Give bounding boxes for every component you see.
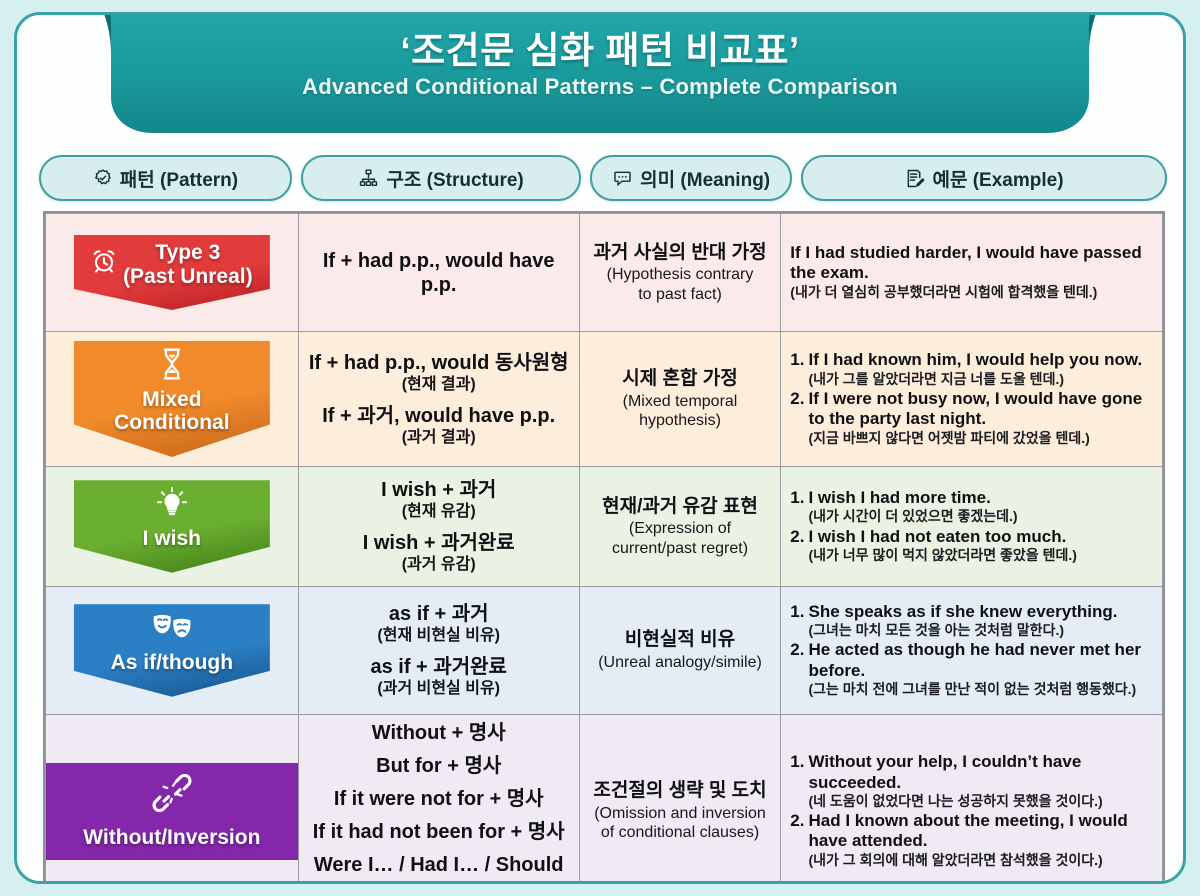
structure-block: If + 과거, would have p.p. (과거 결과) [308, 404, 570, 448]
structure-block: as if + 과거 (현재 비현실 비유) [308, 602, 570, 646]
structure-sub: (현재 결과) [308, 375, 570, 395]
pattern-banner: Without/Inversion [46, 763, 298, 860]
structure-sub: (과거 유감) [308, 555, 570, 575]
structure-block: If it had not been for + 명사 [308, 820, 570, 844]
column-header-meaning: 의미 (Meaning) [590, 155, 792, 201]
structure-block: I wish + 과거 (현재 유감) [308, 478, 570, 522]
column-header-label: 의미 (Meaning) [640, 165, 770, 192]
pattern-banner-wrap: Type 3 (Past Unreal) [46, 235, 298, 310]
pattern-label-line1: Mixed [142, 388, 202, 412]
meaning-korean: 현재/과거 유감 표현 [589, 495, 772, 519]
list-item: 1. If I had known him, I would help you … [790, 350, 1153, 387]
example-body: Had I known about the meeting, I would h… [808, 811, 1153, 869]
meaning-english: (Mixed temporal hypothesis) [589, 392, 772, 431]
broken-chain-icon [152, 773, 192, 818]
header-banner-shape [17, 12, 1183, 143]
example-english: He acted as though he had never met her … [808, 640, 1153, 681]
example-body: Without your help, I couldn’t have succe… [808, 752, 1153, 810]
list-item: 2. He acted as though he had never met h… [790, 640, 1153, 698]
example-english: Without your help, I couldn’t have succe… [808, 752, 1153, 793]
structure-main: But for + 명사 [308, 754, 570, 778]
example-number: 1. [790, 602, 804, 639]
structure-block: If + had p.p., would have p.p. [308, 249, 570, 297]
meaning-english: (Omission and inversion of conditional c… [589, 804, 772, 843]
structure-block: Were I… / Had I… / Should I… [308, 853, 570, 884]
meaning-cell: 조건절의 생략 및 도치 (Omission and inversion of … [579, 715, 781, 885]
list-item: 2. Had I known about the meeting, I woul… [790, 811, 1153, 869]
structure-main: If + had p.p., would have p.p. [308, 249, 570, 297]
pattern-banner-wrap: As if/though [46, 604, 298, 696]
example-list: 1. She speaks as if she knew everything.… [790, 602, 1153, 698]
structure-sub: (과거 결과) [308, 428, 570, 448]
structure-sub: (과거 비현실 비유) [308, 679, 570, 699]
pattern-cell: I wish [46, 467, 299, 587]
example-cell: If I had studied harder, I would have pa… [781, 214, 1163, 332]
example-korean: (내가 그 회의에 대해 알았더라면 참석했을 것이다.) [808, 852, 1153, 869]
example-number: 2. [790, 640, 804, 698]
example-english: She speaks as if she knew everything. [808, 602, 1153, 622]
meaning-cell: 시제 혼합 가정 (Mixed temporal hypothesis) [579, 332, 781, 467]
example-number: 1. [790, 350, 804, 387]
infographic-card: ‘조건문 심화 패턴 비교표’ Advanced Conditional Pat… [14, 12, 1186, 884]
example-list: If I had studied harder, I would have pa… [790, 243, 1153, 301]
example-english: I wish I had more time. [808, 488, 1153, 508]
list-item: If I had studied harder, I would have pa… [790, 243, 1153, 301]
pattern-banner: Mixed Conditional [74, 341, 270, 457]
table-row: I wish I wish + 과거 (현재 유감) I wish + 과거완료… [46, 467, 1163, 587]
page-title: ‘조건문 심화 패턴 비교표’ [400, 30, 799, 73]
column-header-label: 구조 (Structure) [386, 165, 523, 192]
meaning-cell: 과거 사실의 반대 가정 (Hypothesis contrary to pas… [579, 214, 781, 332]
header-banner: ‘조건문 심화 패턴 비교표’ Advanced Conditional Pat… [17, 12, 1183, 143]
meaning-korean: 조건절의 생략 및 도치 [589, 779, 772, 803]
structure-main: I wish + 과거완료 [308, 531, 570, 555]
column-header-label: 패턴 (Pattern) [120, 165, 238, 192]
speech-bubble-icon [612, 168, 633, 188]
table-row: Type 3 (Past Unreal) If + had p.p., woul… [46, 214, 1163, 332]
pattern-label-line1: I wish [143, 527, 201, 551]
example-korean: (내가 너무 많이 먹지 않았더라면 좋았을 텐데.) [808, 547, 1153, 564]
list-item: 1. I wish I had more time. (내가 시간이 더 있었으… [790, 488, 1153, 525]
structure-cell: I wish + 과거 (현재 유감) I wish + 과거완료 (과거 유감… [298, 467, 579, 587]
example-body: If I had studied harder, I would have pa… [790, 243, 1153, 301]
structure-sub: (현재 유감) [308, 502, 570, 522]
example-english: Had I known about the meeting, I would h… [808, 811, 1153, 852]
example-body: If I were not busy now, I would have gon… [808, 389, 1153, 447]
pattern-cell: As if/though [46, 587, 299, 715]
structure-main: I wish + 과거 [308, 478, 570, 502]
structure-block: as if + 과거완료 (과거 비현실 비유) [308, 655, 570, 699]
structure-main: If + had p.p., would 동사원형 [308, 351, 570, 375]
pattern-banner: I wish [74, 480, 270, 572]
example-korean: (그는 마치 전에 그녀를 만난 적이 없는 것처럼 행동했다.) [808, 681, 1153, 698]
structure-cell: Without + 명사 But for + 명사 If it were not… [298, 715, 579, 885]
structure-main: If it were not for + 명사 [308, 787, 570, 811]
example-number: 1. [790, 752, 804, 810]
pattern-banner-wrap: Mixed Conditional [46, 341, 298, 457]
example-korean: (내가 그를 알았더라면 지금 너를 도울 텐데.) [808, 371, 1153, 388]
example-english: If I were not busy now, I would have gon… [808, 389, 1153, 430]
example-english: I wish I had not eaten too much. [808, 527, 1153, 547]
example-english: If I had studied harder, I would have pa… [790, 243, 1153, 284]
meaning-korean: 시제 혼합 가정 [589, 367, 772, 391]
hourglass-icon [157, 347, 187, 386]
pattern-banner-wrap: I wish [46, 480, 298, 572]
meaning-english: (Expression of current/past regret) [589, 519, 772, 558]
structure-cell: as if + 과거 (현재 비현실 비유) as if + 과거완료 (과거 … [298, 587, 579, 715]
example-number: 2. [790, 811, 804, 869]
list-item: 1. Without your help, I couldn’t have su… [790, 752, 1153, 810]
pattern-label-line1: As if/though [111, 651, 233, 675]
meaning-korean: 비현실적 비유 [589, 628, 772, 652]
pattern-cell: Without/Inversion [46, 715, 299, 885]
example-list: 1. If I had known him, I would help you … [790, 350, 1153, 446]
structure-block: Without + 명사 [308, 721, 570, 745]
example-korean: (그녀는 마치 모든 것을 아는 것처럼 말한다.) [808, 622, 1153, 639]
sitemap-icon [358, 168, 379, 188]
list-item: 2. If I were not busy now, I would have … [790, 389, 1153, 447]
example-number: 1. [790, 488, 804, 525]
pattern-label-line2: Conditional [114, 411, 229, 435]
example-number: 2. [790, 527, 804, 564]
alarm-clock-icon [91, 248, 117, 279]
structure-cell: If + had p.p., would 동사원형 (현재 결과) If + 과… [298, 332, 579, 467]
example-cell: 1. Without your help, I couldn’t have su… [781, 715, 1163, 885]
theater-masks-icon [150, 610, 194, 649]
structure-main: as if + 과거완료 [308, 655, 570, 679]
structure-cell: If + had p.p., would have p.p. [298, 214, 579, 332]
example-body: He acted as though he had never met her … [808, 640, 1153, 698]
lightbulb-icon [155, 486, 189, 525]
pattern-label-line1: Without/Inversion [83, 826, 260, 850]
column-header-pattern: 패턴 (Pattern) [39, 155, 292, 201]
meaning-cell: 현재/과거 유감 표현 (Expression of current/past … [579, 467, 781, 587]
example-korean: (내가 시간이 더 있었으면 좋겠는데.) [808, 508, 1153, 525]
table-row: Without/Inversion Without + 명사 But for +… [46, 715, 1163, 885]
example-body: If I had known him, I would help you now… [808, 350, 1153, 387]
page-subtitle: Advanced Conditional Patterns – Complete… [302, 74, 898, 100]
pattern-banner: Type 3 (Past Unreal) [74, 235, 270, 310]
column-header-structure: 구조 (Structure) [301, 155, 581, 201]
list-item: 2. I wish I had not eaten too much. (내가 … [790, 527, 1153, 564]
meaning-english: (Unreal analogy/simile) [589, 653, 772, 673]
example-body: I wish I had more time. (내가 시간이 더 있었으면 좋… [808, 488, 1153, 525]
structure-main: If it had not been for + 명사 [308, 820, 570, 844]
column-headers: 패턴 (Pattern) 구조 (Structure) [39, 155, 1167, 201]
table-row: Mixed Conditional If + had p.p., would 동… [46, 332, 1163, 467]
column-header-label: 예문 (Example) [932, 165, 1063, 192]
example-korean: (지금 바쁘지 않다면 어젯밤 파티에 갔었을 텐데.) [808, 430, 1153, 447]
example-body: She speaks as if she knew everything. (그… [808, 602, 1153, 639]
structure-sub: (현재 비현실 비유) [308, 626, 570, 646]
example-korean: (네 도움이 없었다면 나는 성공하지 못했을 것이다.) [808, 793, 1153, 810]
column-header-example: 예문 (Example) [801, 155, 1167, 201]
meaning-cell: 비현실적 비유 (Unreal analogy/simile) [579, 587, 781, 715]
example-list: 1. Without your help, I couldn’t have su… [790, 752, 1153, 869]
example-cell: 1. I wish I had more time. (내가 시간이 더 있었으… [781, 467, 1163, 587]
example-list: 1. I wish I had more time. (내가 시간이 더 있었으… [790, 488, 1153, 564]
example-english: If I had known him, I would help you now… [808, 350, 1153, 370]
pattern-banner: As if/though [74, 604, 270, 696]
structure-main: Without + 명사 [308, 721, 570, 745]
pattern-label-line1: Type 3 [123, 241, 253, 265]
meaning-korean: 과거 사실의 반대 가정 [589, 241, 772, 265]
meaning-english: (Hypothesis contrary to past fact) [589, 265, 772, 304]
example-korean: (내가 더 열심히 공부했더라면 시험에 합격했을 텐데.) [790, 284, 1153, 301]
structure-block: But for + 명사 [308, 754, 570, 778]
structure-block: If it were not for + 명사 [308, 787, 570, 811]
structure-main: Were I… / Had I… / Should I… [308, 853, 570, 884]
example-number: 2. [790, 389, 804, 447]
structure-block: I wish + 과거완료 (과거 유감) [308, 531, 570, 575]
pattern-cell: Type 3 (Past Unreal) [46, 214, 299, 332]
structure-block: If + had p.p., would 동사원형 (현재 결과) [308, 351, 570, 395]
example-cell: 1. If I had known him, I would help you … [781, 332, 1163, 467]
example-cell: 1. She speaks as if she knew everything.… [781, 587, 1163, 715]
verified-badge-icon [93, 168, 113, 188]
pattern-label-line2: (Past Unreal) [123, 265, 253, 289]
note-pencil-icon [904, 168, 925, 189]
pattern-cell: Mixed Conditional [46, 332, 299, 467]
list-item: 1. She speaks as if she knew everything.… [790, 602, 1153, 639]
comparison-table: Type 3 (Past Unreal) If + had p.p., woul… [43, 211, 1165, 884]
table-row: As if/though as if + 과거 (현재 비현실 비유) as i… [46, 587, 1163, 715]
example-body: I wish I had not eaten too much. (내가 너무 … [808, 527, 1153, 564]
structure-main: If + 과거, would have p.p. [308, 404, 570, 428]
structure-main: as if + 과거 [308, 602, 570, 626]
